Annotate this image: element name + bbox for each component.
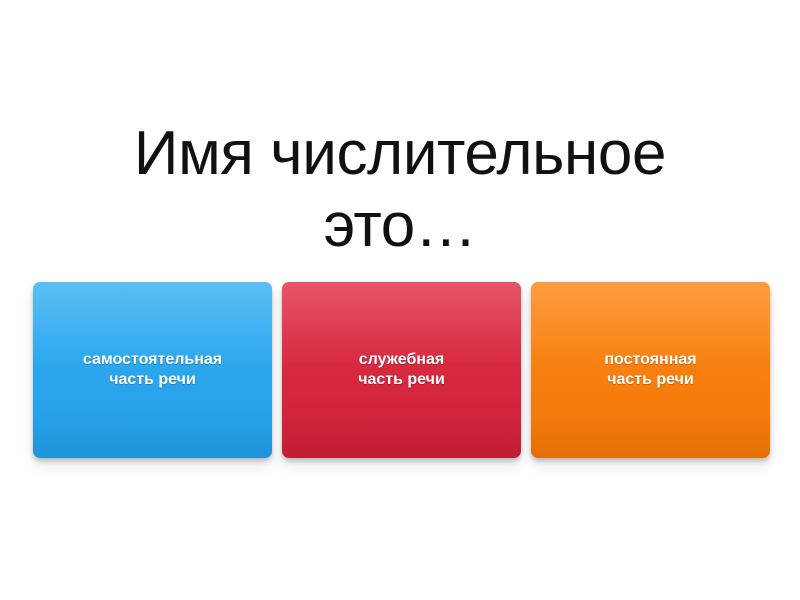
answer-option-2-label: служебная часть речи	[358, 350, 445, 391]
quiz-slide: Имя числительное это… самостоятельная ча…	[0, 0, 800, 600]
answer-option-3-label: постоянная часть речи	[604, 350, 696, 391]
answer-option-1-label: самостоятельная часть речи	[83, 350, 222, 391]
answer-option-1[interactable]: самостоятельная часть речи	[33, 282, 272, 458]
answer-option-2[interactable]: служебная часть речи	[282, 282, 521, 458]
answer-option-3[interactable]: постоянная часть речи	[531, 282, 770, 458]
question-prompt: Имя числительное это…	[0, 118, 800, 262]
answer-options-row: самостоятельная часть речи служебная час…	[33, 282, 770, 458]
